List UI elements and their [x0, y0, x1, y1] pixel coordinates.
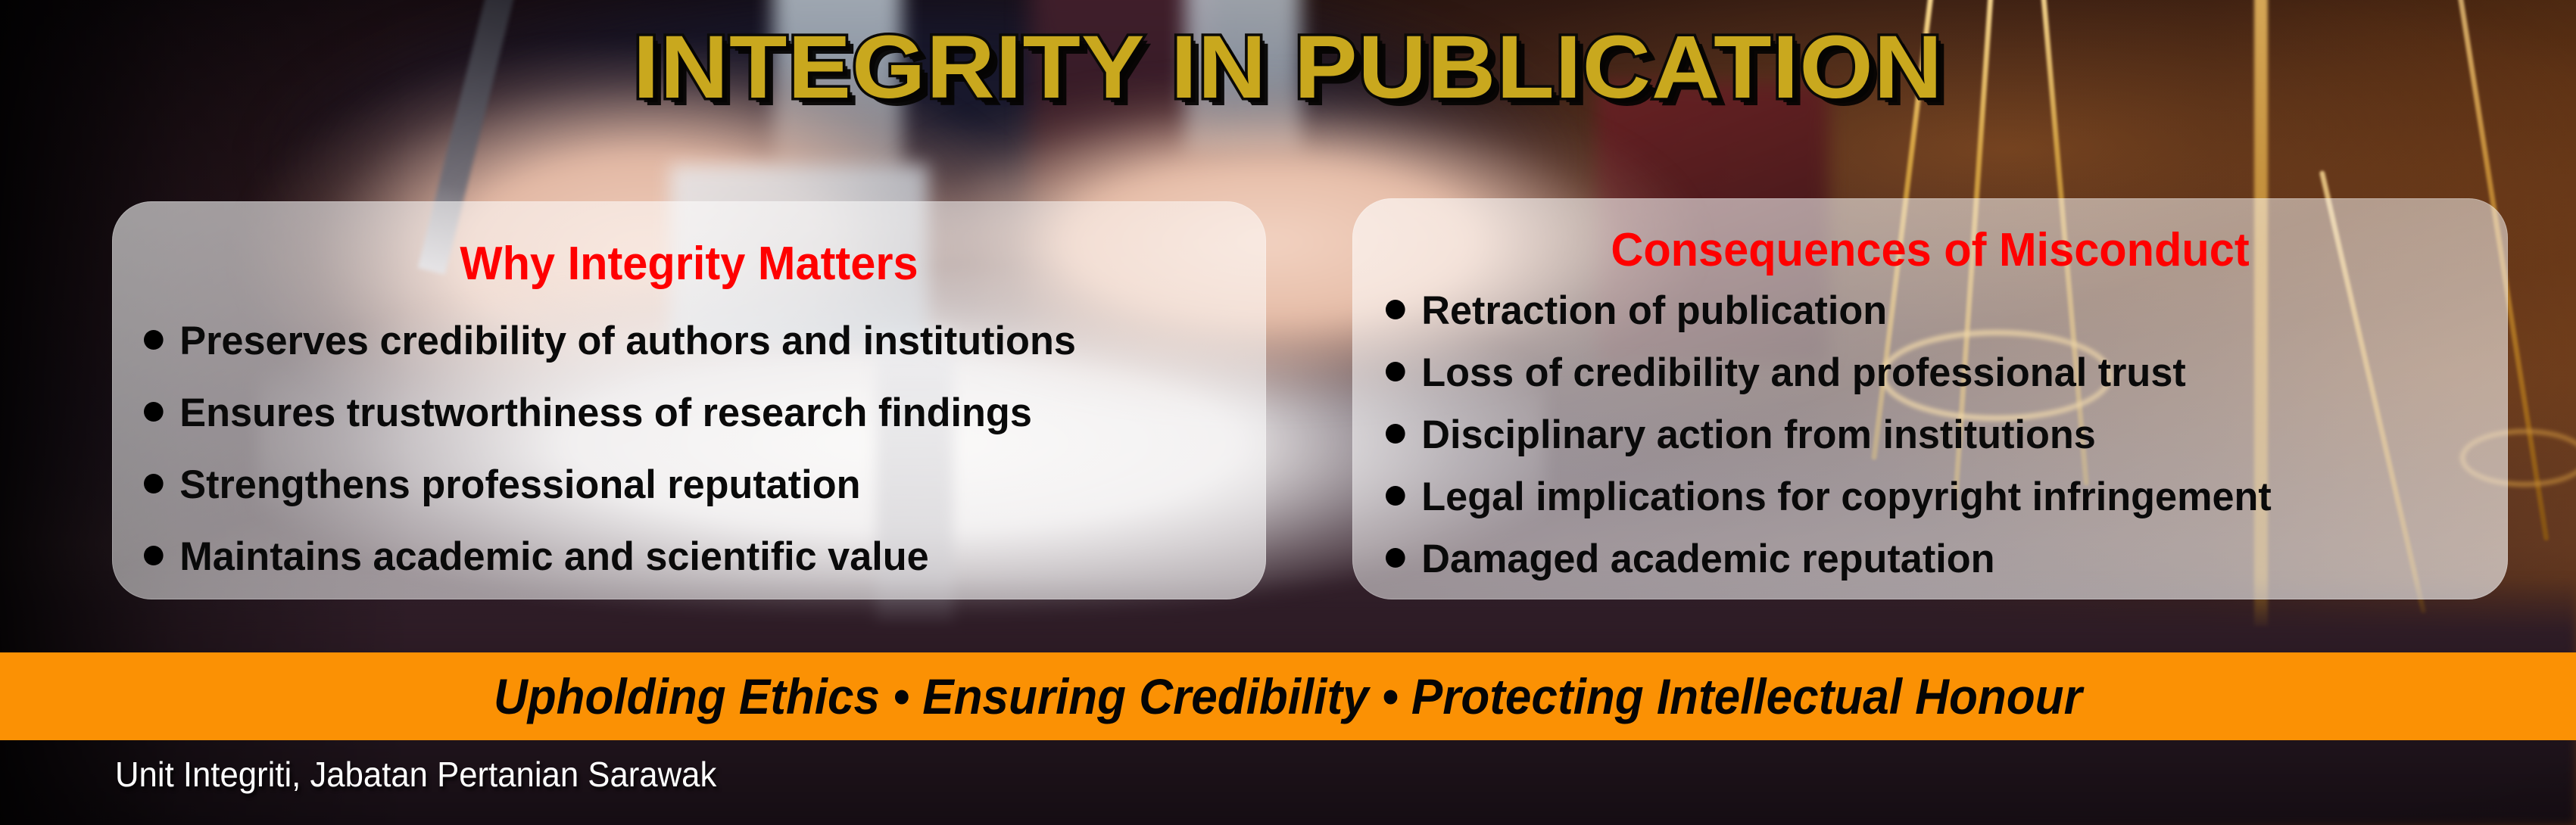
- bullet-dot-icon: [1386, 548, 1405, 568]
- list-item: Retraction of publication: [1386, 291, 2491, 331]
- list-item: Damaged academic reputation: [1386, 539, 2491, 579]
- list-item-label: Disciplinary action from institutions: [1421, 415, 2096, 455]
- list-item-label: Strengthens professional reputation: [179, 465, 860, 505]
- list-item-label: Legal implications for copyright infring…: [1421, 477, 2272, 517]
- list-item-label: Ensures trustworthiness of research find…: [179, 393, 1032, 433]
- list-item: Strengthens professional reputation: [144, 465, 1249, 505]
- credit-line: Unit Integriti, Jabatan Pertanian Sarawa…: [115, 757, 716, 792]
- card-heading-why-integrity-matters: Why Integrity Matters: [135, 241, 1243, 288]
- card-consequences-of-misconduct: Consequences of Misconduct Retraction of…: [1352, 198, 2508, 599]
- list-item-label: Retraction of publication: [1421, 291, 1887, 331]
- list-item: Legal implications for copyright infring…: [1386, 477, 2491, 517]
- list-item-label: Damaged academic reputation: [1421, 539, 1994, 579]
- list-item-label: Loss of credibility and professional tru…: [1421, 353, 2185, 393]
- list-item: Maintains academic and scientific value: [144, 537, 1249, 577]
- list-item-label: Maintains academic and scientific value: [179, 537, 928, 577]
- list-item-label: Preserves credibility of authors and ins…: [179, 321, 1076, 361]
- bullet-list-why-integrity-matters: Preserves credibility of authors and ins…: [112, 321, 1266, 577]
- list-item: Loss of credibility and professional tru…: [1386, 353, 2491, 393]
- bullet-dot-icon: [1386, 424, 1405, 444]
- tagline-banner: Upholding Ethics • Ensuring Credibility …: [0, 652, 2576, 740]
- list-item: Preserves credibility of authors and ins…: [144, 321, 1249, 361]
- integrity-poster: INTEGRITY IN PUBLICATION Why Integrity M…: [0, 0, 2576, 825]
- bullet-list-consequences-of-misconduct: Retraction of publication Loss of credib…: [1352, 291, 2508, 579]
- list-item: Disciplinary action from institutions: [1386, 415, 2491, 455]
- bullet-dot-icon: [144, 474, 164, 493]
- bullet-dot-icon: [1386, 486, 1405, 506]
- card-heading-consequences-of-misconduct: Consequences of Misconduct: [1376, 227, 2485, 274]
- bullet-dot-icon: [144, 546, 164, 565]
- tagline-text: Upholding Ethics • Ensuring Credibility …: [494, 671, 2082, 721]
- poster-title: INTEGRITY IN PUBLICATION: [0, 20, 2576, 116]
- list-item: Ensures trustworthiness of research find…: [144, 393, 1249, 433]
- card-why-integrity-matters: Why Integrity Matters Preserves credibil…: [112, 201, 1266, 599]
- bullet-dot-icon: [1386, 362, 1405, 381]
- bullet-dot-icon: [1386, 300, 1405, 319]
- bullet-dot-icon: [144, 330, 164, 350]
- bullet-dot-icon: [144, 402, 164, 422]
